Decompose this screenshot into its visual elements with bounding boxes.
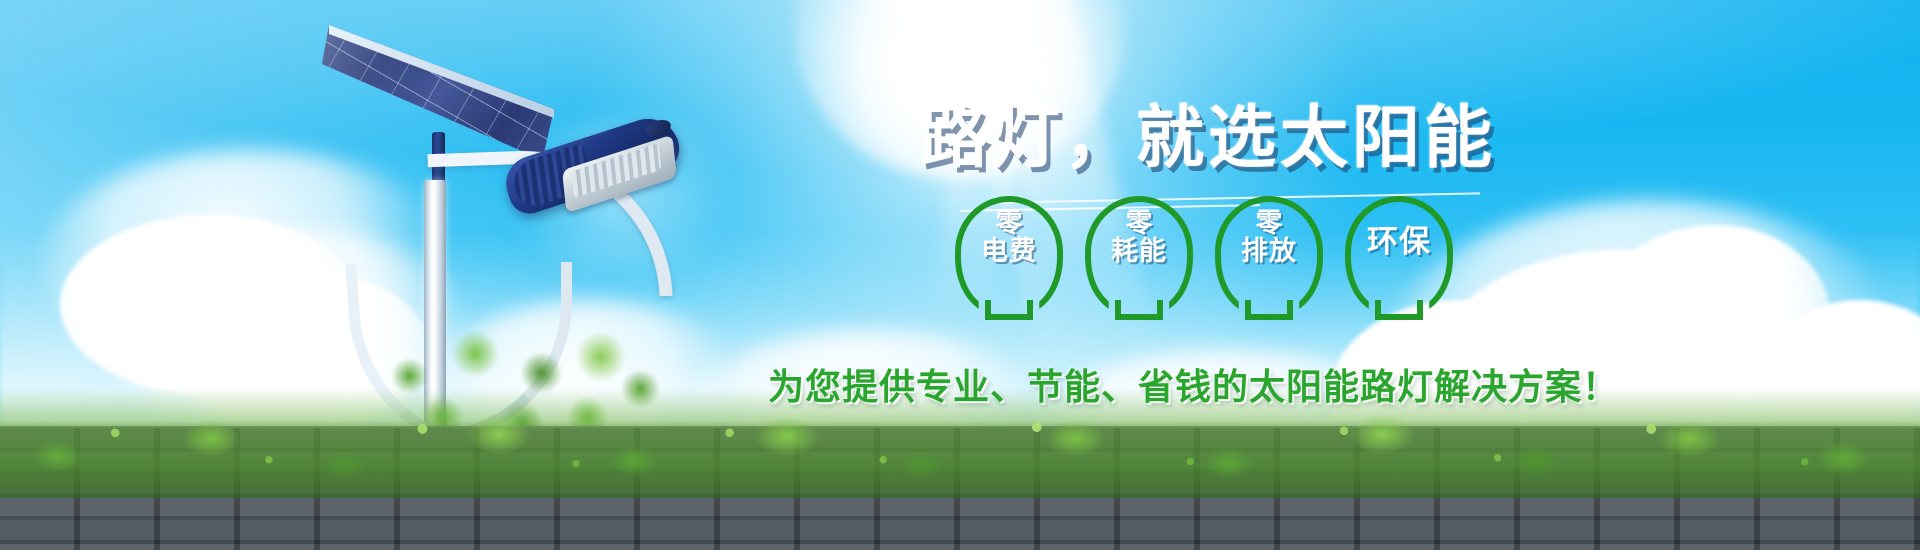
feature-badge-zero-electricity-cost[interactable]: 零 电费 bbox=[955, 196, 1063, 324]
badge-top-text: 零 bbox=[955, 210, 1063, 238]
badge-bottom-text: 电费 bbox=[955, 238, 1063, 266]
feature-badge-eco-friendly[interactable]: 环保 bbox=[1345, 196, 1453, 324]
banner-copy: 路灯，就选太阳能 零 电费 零 耗能 bbox=[0, 0, 1920, 550]
badge-top-text: 零 bbox=[1215, 210, 1323, 238]
badge-bottom-text: 排放 bbox=[1215, 238, 1323, 266]
badge-label: 环保 bbox=[1345, 226, 1453, 258]
badge-top-text: 零 bbox=[1085, 210, 1193, 238]
feature-badge-zero-emission[interactable]: 零 排放 bbox=[1215, 196, 1323, 324]
tagline: 为您提供专业、节能、省钱的太阳能路灯解决方案！ bbox=[768, 358, 1619, 410]
feature-badge-list: 零 电费 零 耗能 零 排放 bbox=[955, 196, 1475, 326]
feature-badge-zero-energy-use[interactable]: 零 耗能 bbox=[1085, 196, 1193, 324]
solar-street-light-banner: 路灯，就选太阳能 零 电费 零 耗能 bbox=[0, 0, 1920, 550]
badge-bottom-text: 环保 bbox=[1345, 226, 1453, 258]
badge-label: 零 排放 bbox=[1215, 210, 1323, 265]
lightbulb-base-icon bbox=[1115, 300, 1163, 320]
badge-label: 零 电费 bbox=[955, 210, 1063, 265]
lightbulb-base-icon bbox=[985, 300, 1033, 320]
badge-bottom-text: 耗能 bbox=[1085, 238, 1193, 266]
headline: 路灯，就选太阳能 bbox=[920, 104, 1480, 172]
lightbulb-base-icon bbox=[1375, 300, 1423, 320]
badge-label: 零 耗能 bbox=[1085, 210, 1193, 265]
lightbulb-base-icon bbox=[1245, 300, 1293, 320]
